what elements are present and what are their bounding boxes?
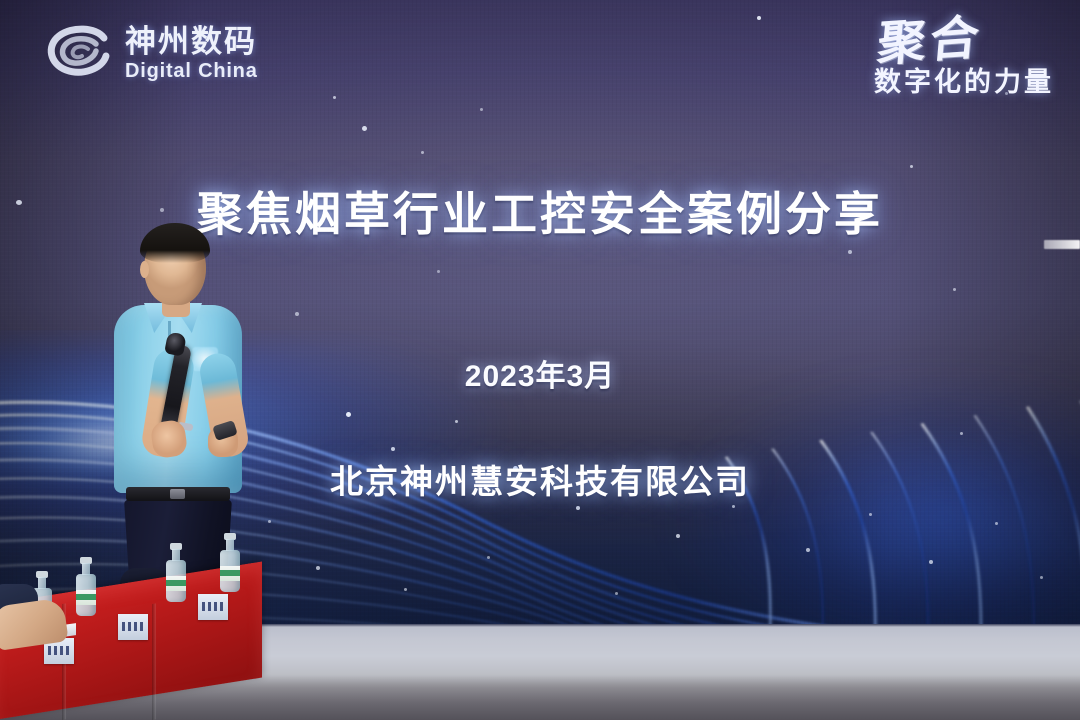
bottle-neck [172, 549, 180, 561]
bottle-body [220, 550, 240, 592]
digital-china-logo: 神州数码 Digital China [44, 22, 258, 84]
logo-chinese-text: 神州数码 [125, 26, 258, 57]
speaker-belt-buckle [170, 489, 185, 499]
front-table [0, 580, 262, 720]
water-bottle [76, 574, 96, 616]
bottle-neck [226, 539, 234, 551]
bottle-neck [82, 563, 90, 575]
water-bottle [220, 550, 240, 592]
bottle-label [220, 566, 240, 581]
event-theme-logo: 聚合 数字化的力量 [874, 18, 1054, 99]
speaker-hair [140, 223, 210, 263]
speaker-ear [140, 261, 149, 278]
screen-edge-light-bar [1044, 240, 1080, 249]
event-theme-brush-text: 聚合 [876, 14, 985, 67]
bottle-label [166, 576, 186, 591]
logo-english-text: Digital China [125, 61, 258, 81]
conference-photo: 神州数码 Digital China 聚合 数字化的力量 聚焦烟草行业工控安全案… [0, 0, 1080, 720]
bottle-neck [38, 577, 46, 589]
digital-china-swirl-logo-icon [44, 22, 114, 84]
name-card [118, 614, 148, 640]
bottle-body [76, 574, 96, 616]
name-card [198, 594, 228, 620]
bottle-label [76, 590, 96, 605]
table-cloth-fold [152, 603, 156, 720]
water-bottle [166, 560, 186, 602]
bottle-body [166, 560, 186, 602]
